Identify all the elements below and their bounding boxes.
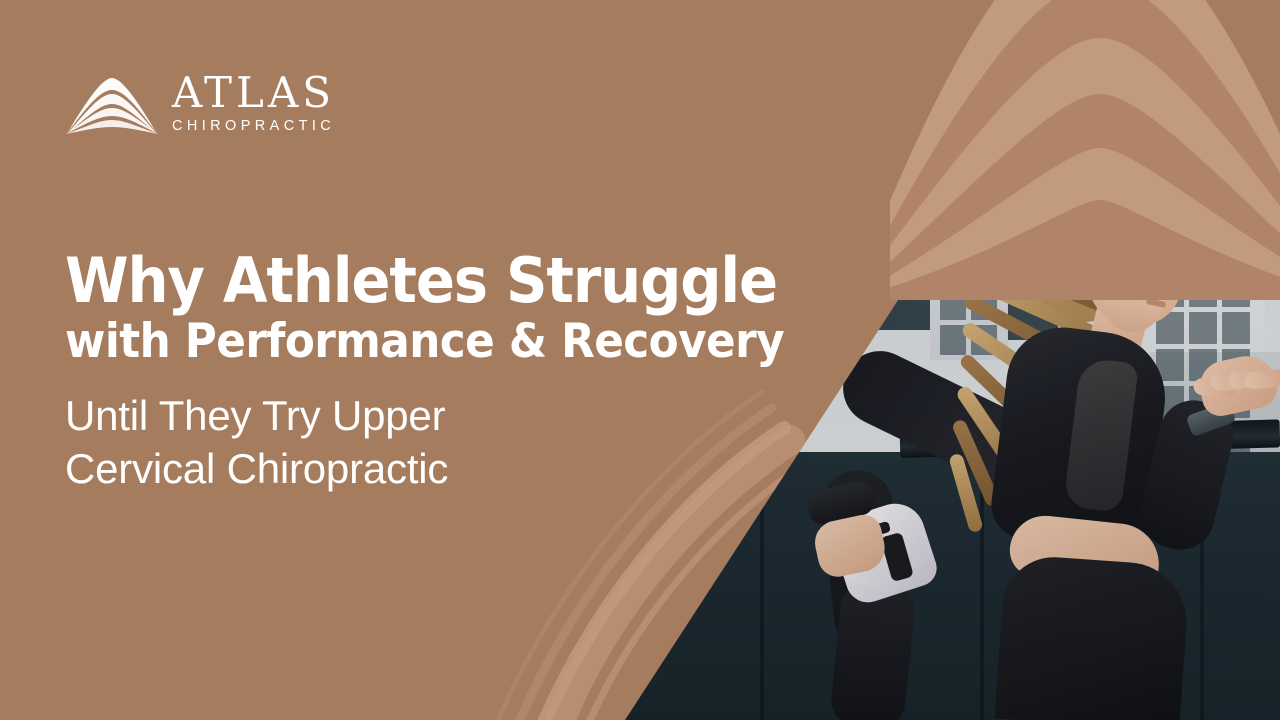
subheadline-line-2: Cervical Chiropractic: [65, 442, 845, 496]
brand-logo[interactable]: ATLAS CHIROPRACTIC: [66, 72, 335, 134]
logo-brand-text: ATLAS: [172, 72, 335, 113]
logo-tagline-text: CHIROPRACTIC: [172, 118, 335, 134]
headline-line-2: with Performance & Recovery: [65, 316, 790, 369]
subheadline-line-1: Until They Try Upper: [65, 389, 845, 443]
subheadline: Until They Try Upper Cervical Chiropract…: [65, 389, 845, 497]
nested-arcs-mountain-icon: [66, 72, 158, 134]
hero-copy: Why Athletes Struggle with Performance &…: [65, 250, 845, 496]
headline-line-1: Why Athletes Struggle: [65, 250, 790, 312]
hero-banner: ATLAS CHIROPRACTIC Why Athletes Struggle…: [0, 0, 1280, 720]
